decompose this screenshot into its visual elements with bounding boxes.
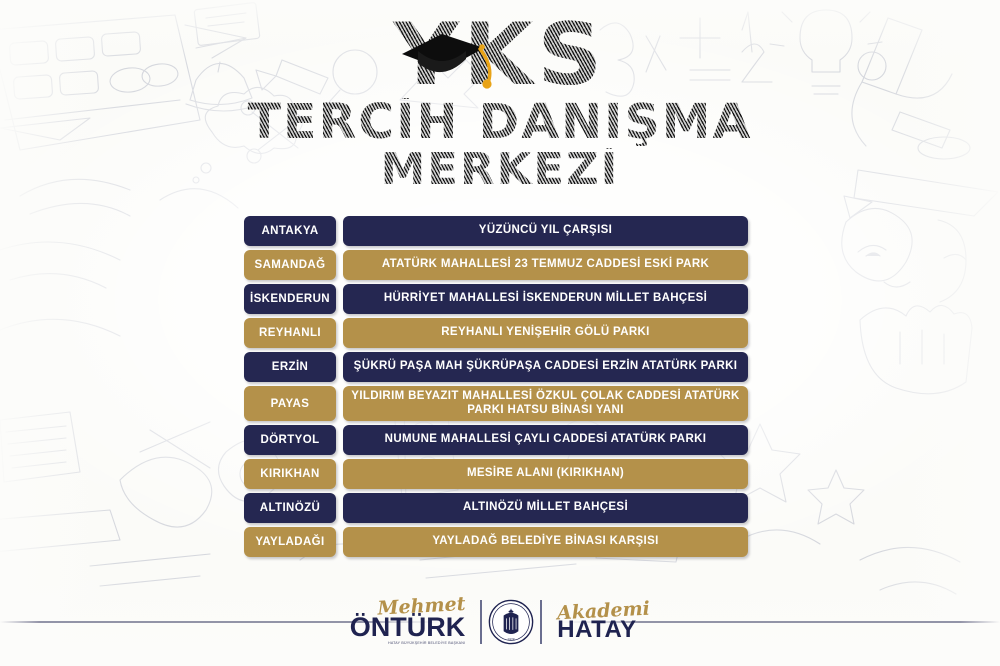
akademi-hatay-logo: Akademi HATAY: [548, 602, 650, 642]
logo-divider-right: [540, 600, 542, 644]
table-row: PAYAS YILDIRIM BEYAZIT MAHALLESİ ÖZKUL Ç…: [244, 386, 748, 421]
table-row: ERZİN ŞÜKRÜ PAŞA MAH ŞÜKRÜPAŞA CADDESİ E…: [244, 352, 748, 382]
table-row: SAMANDAĞ ATATÜRK MAHALLESİ 23 TEMMUZ CAD…: [244, 250, 748, 280]
district-name: PAYAS: [244, 386, 336, 421]
district-name: KIRIKHAN: [244, 459, 336, 489]
district-name: REYHANLI: [244, 318, 336, 348]
district-address: REYHANLI YENİŞEHİR GÖLÜ PARKI: [343, 318, 748, 348]
table-row: YAYLADAĞI YAYLADAĞ BELEDİYE BİNASI KARŞI…: [244, 527, 748, 557]
district-name: İSKENDERUN: [244, 284, 336, 314]
district-name: ANTAKYA: [244, 216, 336, 246]
district-address: ALTINÖZÜ MİLLET BAHÇESİ: [343, 493, 748, 523]
logo-divider-left: [480, 600, 482, 644]
district-address: NUMUNE MAHALLESİ ÇAYLI CADDESİ ATATÜRK P…: [343, 425, 748, 455]
mayor-logo: Mehmet ÖNTÜRK HATAY BÜYÜKŞEHİR BELEDİYE …: [350, 598, 475, 646]
title-block: YKS TERCİH DANIŞMA MERKEZİ: [0, 12, 1000, 192]
page-title: YKS: [0, 12, 1000, 98]
district-locations-table: ANTAKYA YÜZÜNCÜ YIL ÇARŞISI SAMANDAĞ ATA…: [244, 216, 748, 561]
table-row: İSKENDERUN HÜRRİYET MAHALLESİ İSKENDERUN…: [244, 284, 748, 314]
table-row: REYHANLI REYHANLI YENİŞEHİR GÖLÜ PARKI: [244, 318, 748, 348]
subtitle-line2: MERKEZİ: [0, 148, 1000, 192]
mayor-title: HATAY BÜYÜKŞEHİR BELEDİYE BAŞKANI: [350, 642, 466, 646]
district-address: ŞÜKRÜ PAŞA MAH ŞÜKRÜPAŞA CADDESİ ERZİN A…: [343, 352, 748, 382]
table-row: ANTAKYA YÜZÜNCÜ YIL ÇARŞISI: [244, 216, 748, 246]
district-address: HÜRRİYET MAHALLESİ İSKENDERUN MİLLET BAH…: [343, 284, 748, 314]
district-address: MESİRE ALANI (KIRIKHAN): [343, 459, 748, 489]
district-name: SAMANDAĞ: [244, 250, 336, 280]
district-address: YÜZÜNCÜ YIL ÇARŞISI: [343, 216, 748, 246]
district-address: YILDIRIM BEYAZIT MAHALLESİ ÖZKUL ÇOLAK C…: [343, 386, 748, 421]
district-name: YAYLADAĞI: [244, 527, 336, 557]
district-address: YAYLADAĞ BELEDİYE BİNASI KARŞISI: [343, 527, 748, 557]
district-name: ALTINÖZÜ: [244, 493, 336, 523]
svg-text:1928: 1928: [508, 637, 515, 641]
akademi-script: Akademi: [557, 600, 651, 624]
subtitle-line1: TERCİH DANIŞMA: [0, 98, 1000, 146]
table-row: KIRIKHAN MESİRE ALANI (KIRIKHAN): [244, 459, 748, 489]
footer-logo: Mehmet ÖNTÜRK HATAY BÜYÜKŞEHİR BELEDİYE …: [0, 586, 1000, 658]
poster-canvas: YKS TERCİH DANIŞMA MERKEZİ ANTAKYA YÜZÜN…: [0, 0, 1000, 666]
district-name: ERZİN: [244, 352, 336, 382]
district-name: DÖRTYOL: [244, 425, 336, 455]
table-row: ALTINÖZÜ ALTINÖZÜ MİLLET BAHÇESİ: [244, 493, 748, 523]
table-row: DÖRTYOL NUMUNE MAHALLESİ ÇAYLI CADDESİ A…: [244, 425, 748, 455]
hatay-municipality-seal-icon: 1928: [488, 599, 534, 645]
district-address: ATATÜRK MAHALLESİ 23 TEMMUZ CADDESİ ESKİ…: [343, 250, 748, 280]
